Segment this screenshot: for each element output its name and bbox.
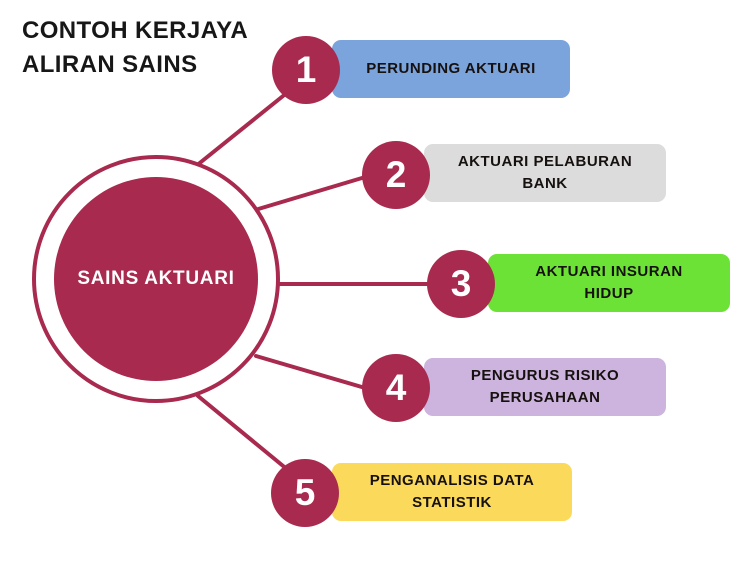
- diagram-canvas: CONTOH KERJAYA ALIRAN SAINS SAINS AKTUAR…: [0, 0, 750, 563]
- branch-number-5: 5: [295, 474, 316, 511]
- branch-bar-5[interactable]: PENGANALISIS DATA STATISTIK: [332, 463, 572, 521]
- branch-number-1: 1: [296, 51, 317, 88]
- branch-label-2: AKTUARI PELABURAN BANK: [448, 151, 642, 195]
- branch-number-2: 2: [386, 156, 407, 193]
- branch-label-3: AKTUARI INSURAN HIDUP: [525, 261, 693, 305]
- hub-label: SAINS AKTUARI: [77, 268, 234, 290]
- branch-label-5: PENGANALISIS DATA STATISTIK: [360, 470, 545, 514]
- branch-badge-5[interactable]: 5: [271, 459, 339, 527]
- branch-bar-1[interactable]: PERUNDING AKTUARI: [332, 40, 570, 98]
- hub-core: SAINS AKTUARI: [54, 177, 258, 381]
- connector-line-4: [256, 356, 372, 390]
- branch-bar-2[interactable]: AKTUARI PELABURAN BANK: [424, 144, 666, 202]
- branch-badge-3[interactable]: 3: [427, 250, 495, 318]
- branch-label-4: PENGURUS RISIKO PERUSAHAAN: [461, 365, 629, 409]
- page-title: CONTOH KERJAYA ALIRAN SAINS: [22, 14, 248, 82]
- branch-number-3: 3: [451, 265, 472, 302]
- connector-line-1: [196, 92, 288, 166]
- branch-bar-3[interactable]: AKTUARI INSURAN HIDUP: [488, 254, 730, 312]
- branch-number-4: 4: [386, 369, 407, 406]
- branch-label-1: PERUNDING AKTUARI: [356, 58, 546, 80]
- page-title-line-1: CONTOH KERJAYA: [22, 14, 248, 48]
- branch-badge-1[interactable]: 1: [272, 36, 340, 104]
- branch-badge-4[interactable]: 4: [362, 354, 430, 422]
- branch-badge-2[interactable]: 2: [362, 141, 430, 209]
- page-title-line-2: ALIRAN SAINS: [22, 48, 248, 82]
- connector-line-5: [198, 396, 288, 470]
- hub-circle[interactable]: SAINS AKTUARI: [32, 155, 280, 403]
- branch-bar-4[interactable]: PENGURUS RISIKO PERUSAHAAN: [424, 358, 666, 416]
- connector-line-2: [255, 175, 372, 210]
